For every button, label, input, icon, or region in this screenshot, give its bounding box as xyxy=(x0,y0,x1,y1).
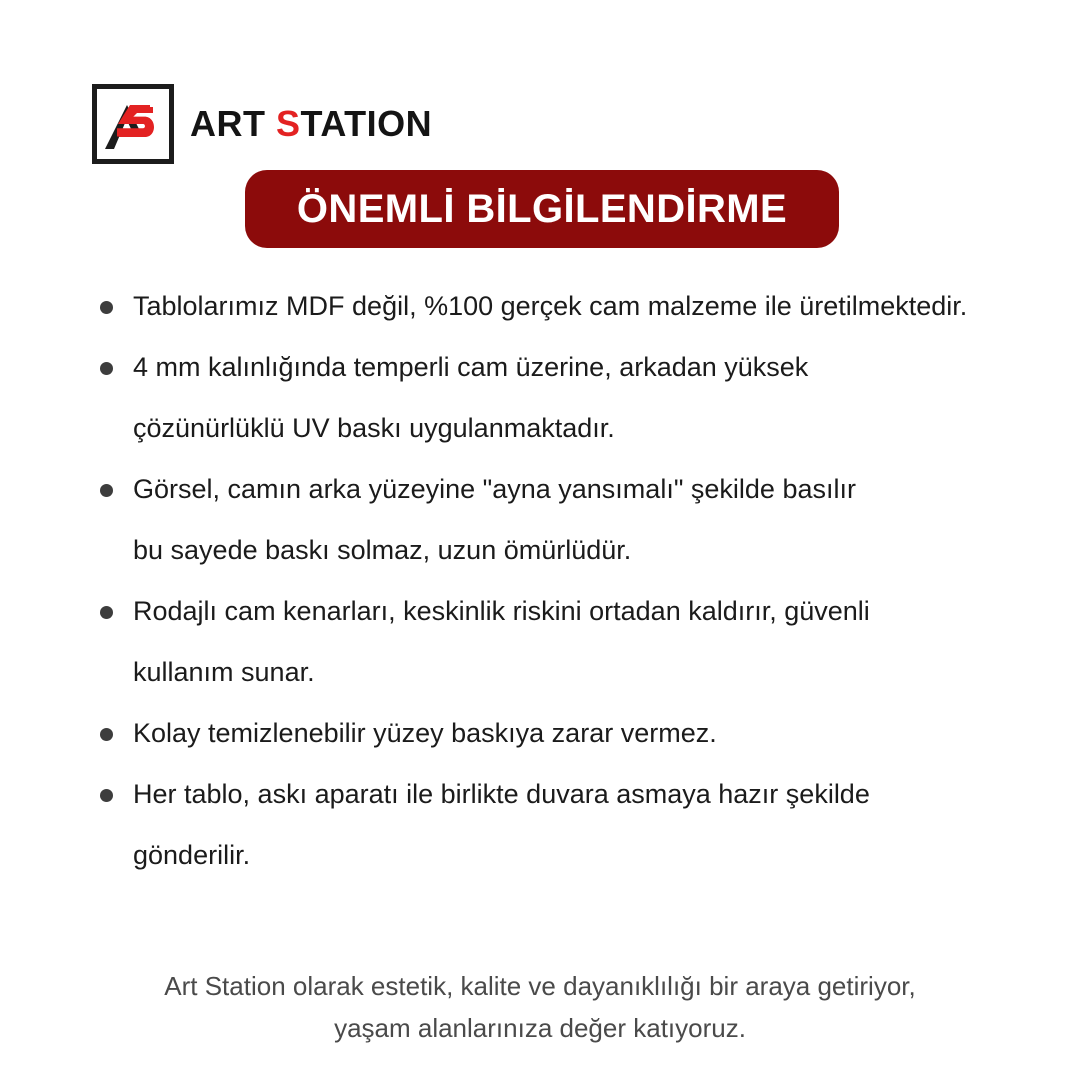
footer-tagline: Art Station olarak estetik, kalite ve da… xyxy=(0,965,1080,1049)
footer-line-1: Art Station olarak estetik, kalite ve da… xyxy=(0,965,1080,1007)
list-item-continuation: çözünürlüklü UV baskı uygulanmaktadır. xyxy=(100,410,1030,471)
promo-info-card: ART STATION ÖNEMLİ BİLGİLENDİRME Tablola… xyxy=(0,0,1080,1080)
list-item-text: Tablolarımız MDF değil, %100 gerçek cam … xyxy=(133,288,967,324)
as-monogram-icon xyxy=(92,84,174,164)
important-notice-banner: ÖNEMLİ BİLGİLENDİRME xyxy=(245,170,839,248)
info-bullet-list: Tablolarımız MDF değil, %100 gerçek cam … xyxy=(100,288,1030,898)
bullet-dot-icon xyxy=(100,728,113,741)
list-item-continuation: kullanım sunar. xyxy=(100,654,1030,715)
bullet-dot-placeholder-icon xyxy=(100,850,113,863)
bullet-dot-icon xyxy=(100,301,113,314)
list-item: Tablolarımız MDF değil, %100 gerçek cam … xyxy=(100,288,1030,349)
list-item-text: çözünürlüklü UV baskı uygulanmaktadır. xyxy=(133,410,615,446)
list-item-text: Rodajlı cam kenarları, keskinlik riskini… xyxy=(133,593,870,629)
list-item-text: Kolay temizlenebilir yüzey baskıya zarar… xyxy=(133,715,717,751)
brand-wordmark: ART STATION xyxy=(190,106,432,142)
bullet-dot-icon xyxy=(100,362,113,375)
bullet-dot-placeholder-icon xyxy=(100,423,113,436)
list-item-text: kullanım sunar. xyxy=(133,654,315,690)
list-item-text: bu sayede baskı solmaz, uzun ömürlüdür. xyxy=(133,532,631,568)
footer-line-2: yaşam alanlarınıza değer katıyoruz. xyxy=(0,1007,1080,1049)
bullet-dot-icon xyxy=(100,789,113,802)
bullet-dot-icon xyxy=(100,606,113,619)
brand-word-art: ART xyxy=(190,103,276,144)
list-item-text: Görsel, camın arka yüzeyine "ayna yansım… xyxy=(133,471,856,507)
banner-title: ÖNEMLİ BİLGİLENDİRME xyxy=(297,189,787,229)
list-item: 4 mm kalınlığında temperli cam üzerine, … xyxy=(100,349,1030,410)
list-item-continuation: bu sayede baskı solmaz, uzun ömürlüdür. xyxy=(100,532,1030,593)
list-item-text: gönderilir. xyxy=(133,837,250,873)
brand-word-tation: TATION xyxy=(301,103,433,144)
list-item-continuation: gönderilir. xyxy=(100,837,1030,898)
list-item: Kolay temizlenebilir yüzey baskıya zarar… xyxy=(100,715,1030,776)
list-item: Rodajlı cam kenarları, keskinlik riskini… xyxy=(100,593,1030,654)
bullet-dot-icon xyxy=(100,484,113,497)
bullet-dot-placeholder-icon xyxy=(100,545,113,558)
list-item-text: Her tablo, askı aparatı ile birlikte duv… xyxy=(133,776,870,812)
list-item: Her tablo, askı aparatı ile birlikte duv… xyxy=(100,776,1030,837)
list-item-text: 4 mm kalınlığında temperli cam üzerine, … xyxy=(133,349,808,385)
list-item: Görsel, camın arka yüzeyine "ayna yansım… xyxy=(100,471,1030,532)
bullet-dot-placeholder-icon xyxy=(100,667,113,680)
brand-header: ART STATION xyxy=(92,84,432,164)
brand-word-accent-s: S xyxy=(276,103,301,144)
